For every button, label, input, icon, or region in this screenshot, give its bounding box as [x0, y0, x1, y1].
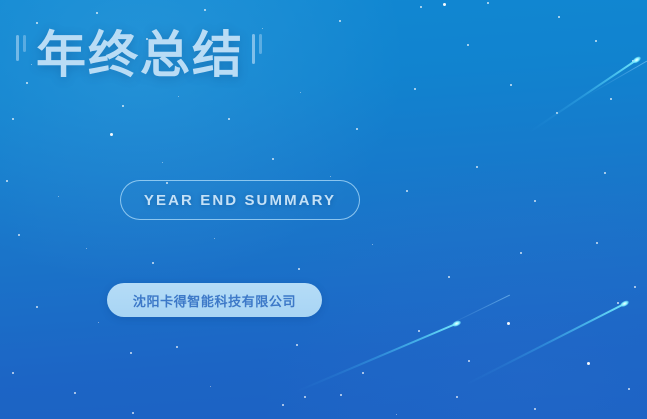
star-dot-icon: [414, 88, 416, 90]
star-dot-icon: [456, 396, 458, 398]
meteor-icon: [295, 320, 459, 394]
star-dot-icon: [339, 20, 341, 22]
star-dot-icon: [632, 60, 634, 62]
presentation-cover-slide: 年终总结 YEAR END SUMMARY 沈阳卡得智能科技有限公司: [0, 0, 647, 419]
star-dot-icon: [558, 16, 560, 18]
star-dot-icon: [162, 162, 163, 163]
star-dot-icon: [340, 394, 342, 396]
star-dot-icon: [282, 404, 284, 406]
meteor-icon: [439, 292, 512, 332]
star-dot-icon: [122, 105, 124, 107]
english-subtitle-label: YEAR END SUMMARY: [144, 192, 336, 209]
star-dot-icon: [304, 396, 306, 398]
star-dot-icon: [617, 302, 619, 304]
star-dot-icon: [610, 98, 612, 100]
star-dot-icon: [468, 360, 470, 362]
star-dot-icon: [18, 234, 20, 236]
star-dot-icon: [396, 414, 397, 415]
star-dot-icon: [487, 2, 489, 4]
star-dot-icon: [178, 96, 179, 97]
star-dot-icon: [96, 12, 98, 14]
star-dot-icon: [520, 252, 522, 254]
star-dot-icon: [228, 118, 230, 120]
star-dot-icon: [448, 276, 450, 278]
star-dot-icon: [6, 180, 8, 182]
meteor-icon: [529, 57, 640, 135]
meteor-tail: [584, 61, 647, 98]
star-dot-icon: [98, 322, 99, 323]
star-dot-icon: [296, 344, 298, 346]
meteor-head: [620, 299, 630, 308]
tick-mark-icon: [252, 34, 255, 64]
meteor-tail: [465, 302, 626, 386]
star-dot-icon: [110, 133, 113, 136]
star-dot-icon: [604, 172, 606, 174]
star-dot-icon: [176, 346, 178, 348]
star-dot-icon: [74, 392, 76, 394]
page-title: 年终总结: [36, 30, 244, 80]
star-dot-icon: [534, 200, 536, 202]
title-tick-decoration-left: [16, 31, 26, 79]
star-dot-icon: [634, 286, 636, 288]
star-dot-icon: [300, 92, 301, 93]
star-dot-icon: [86, 248, 87, 249]
star-dot-icon: [476, 166, 478, 168]
star-dot-icon: [204, 9, 206, 11]
star-dot-icon: [12, 372, 14, 374]
star-dot-icon: [534, 408, 536, 410]
star-dot-icon: [420, 6, 422, 8]
star-dot-icon: [556, 112, 558, 114]
star-dot-icon: [36, 22, 38, 24]
star-dot-icon: [596, 242, 598, 244]
star-dot-icon: [510, 84, 512, 86]
meteor-icon: [464, 300, 627, 387]
star-dot-icon: [298, 268, 300, 270]
meteor-head: [632, 55, 642, 64]
star-dot-icon: [132, 412, 134, 414]
meteor-icon: [583, 58, 647, 99]
star-dot-icon: [130, 352, 132, 354]
star-dot-icon: [443, 3, 446, 6]
tick-mark-icon: [259, 34, 262, 54]
company-name-label: 沈阳卡得智能科技有限公司: [133, 291, 296, 310]
star-dot-icon: [262, 28, 263, 29]
star-dot-icon: [12, 118, 14, 120]
company-name-pill: 沈阳卡得智能科技有限公司: [107, 283, 322, 317]
star-dot-icon: [330, 176, 331, 177]
star-dot-icon: [272, 158, 274, 160]
star-dot-icon: [467, 44, 469, 46]
star-dot-icon: [587, 362, 590, 365]
star-dot-icon: [58, 196, 59, 197]
meteor-tail: [296, 322, 459, 393]
star-dot-icon: [372, 244, 373, 245]
star-dot-icon: [628, 388, 630, 390]
title-row: 年终总结: [16, 30, 262, 80]
star-dot-icon: [406, 190, 408, 192]
tick-mark-icon: [16, 35, 19, 61]
star-dot-icon: [507, 322, 510, 325]
star-dot-icon: [214, 238, 215, 239]
star-dot-icon: [36, 306, 38, 308]
english-subtitle-pill: YEAR END SUMMARY: [120, 180, 360, 220]
star-dot-icon: [362, 372, 364, 374]
meteor-head: [452, 320, 462, 328]
star-dot-icon: [152, 262, 154, 264]
star-dot-icon: [210, 386, 211, 387]
tick-mark-icon: [23, 35, 26, 52]
meteor-tail: [530, 58, 639, 132]
star-dot-icon: [26, 82, 28, 84]
star-dot-icon: [595, 40, 597, 42]
star-dot-icon: [418, 330, 420, 332]
star-dot-icon: [356, 128, 358, 130]
meteor-tail: [440, 295, 511, 330]
title-tick-decoration-right: [252, 32, 262, 78]
